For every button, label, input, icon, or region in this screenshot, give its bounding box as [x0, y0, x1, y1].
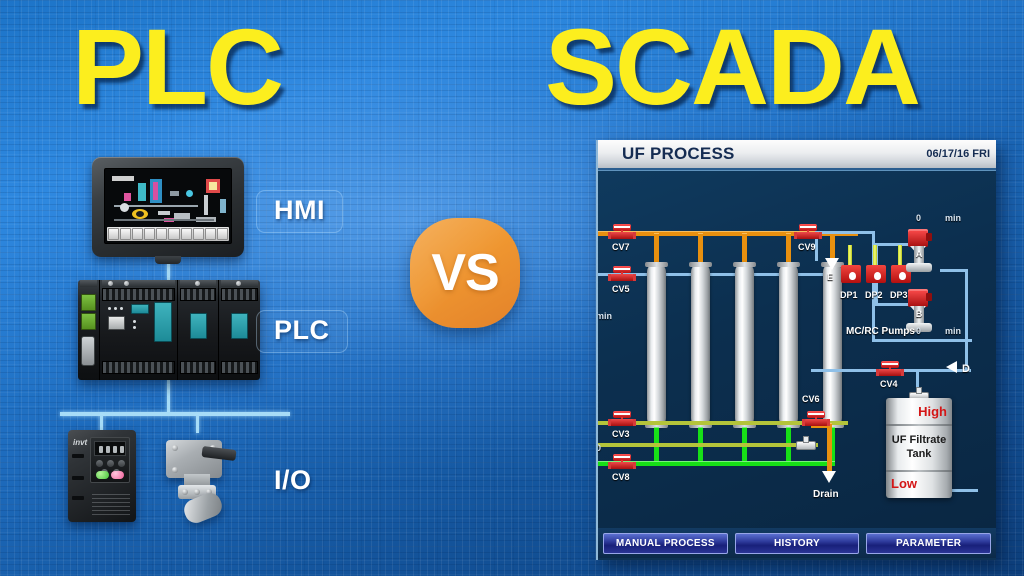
dosing-pump-dp3-label: DP3 — [890, 290, 908, 300]
dosing-pump-dp1[interactable] — [841, 245, 861, 285]
control-valve-cv3-label: CV3 — [612, 429, 630, 439]
scada-process-mimic: CV7 CV5 CV9 CV3 CV8 CV6 CV4 E DP1 DP2 DP… — [598, 170, 996, 528]
mcrc-pump-b-unit: min — [945, 326, 961, 336]
scada-datetime: 06/17/16 FRI — [926, 148, 990, 160]
tank-low-level-label: Low — [891, 476, 917, 491]
discharge-arrow-icon — [946, 361, 957, 373]
scada-button-manual-process[interactable]: MANUAL PROCESS — [603, 533, 728, 554]
scada-button-parameter[interactable]: PARAMETER — [866, 533, 991, 554]
pipe-olive-mid — [598, 443, 818, 447]
control-valve-cv5[interactable] — [610, 266, 634, 281]
bus-line-plc-drop — [167, 380, 170, 413]
control-valve-cv9-label: CV9 — [798, 242, 816, 252]
hmi-taskbar-button[interactable] — [181, 228, 192, 240]
control-valve-cv3[interactable] — [610, 411, 634, 426]
vfd-drive-device[interactable]: invt — [68, 430, 136, 522]
control-valve-cv7-label: CV7 — [612, 242, 630, 252]
hmi-mimic-graphic — [108, 173, 228, 226]
membrane-vessel — [735, 263, 754, 427]
mcrc-pump-b-value: 0 — [916, 326, 921, 336]
dosing-pump-dp1-label: DP1 — [840, 290, 858, 300]
plc-diagram: invt — [0, 130, 400, 560]
left-edge-value: 0 — [598, 443, 601, 453]
mcrc-pump-a-unit: min — [945, 213, 961, 223]
membrane-vessel — [647, 263, 666, 427]
mcrc-pump-b-label: B — [906, 309, 932, 319]
dosing-pump-dp2-label: DP2 — [865, 290, 883, 300]
pipe-mcrc-a-out — [940, 269, 968, 272]
pipe-drain-run — [827, 423, 832, 475]
left-edge-unit: min — [598, 311, 612, 321]
plc-body — [78, 280, 260, 380]
control-valve-cv4-label: CV4 — [880, 379, 898, 389]
scada-footer-bar: MANUAL PROCESS HISTORY PARAMETER — [598, 528, 996, 558]
hmi-taskbar[interactable] — [107, 227, 229, 241]
hmi-taskbar-button[interactable] — [205, 228, 216, 240]
valve-actuator-head — [166, 440, 222, 478]
membrane-vessel — [823, 263, 842, 427]
scada-screen-title: UF PROCESS — [622, 144, 735, 164]
actuator-valve-device[interactable] — [160, 432, 244, 524]
control-valve-cv6-label: CV6 — [802, 394, 820, 404]
vfd-keypad[interactable] — [90, 437, 130, 483]
vfd-run-button[interactable] — [96, 471, 109, 479]
bus-line-horizontal — [60, 412, 290, 416]
hmi-taskbar-button[interactable] — [193, 228, 204, 240]
hmi-taskbar-button[interactable] — [120, 228, 131, 240]
pipe-riser — [698, 233, 703, 265]
manual-valve[interactable] — [794, 439, 816, 450]
plc-power-module — [78, 280, 100, 380]
plc-controller-device[interactable] — [78, 280, 260, 380]
pipe-mcrc-left — [872, 339, 972, 342]
mcrc-pump-a[interactable]: A — [906, 229, 932, 275]
plc-cpu-module — [100, 280, 178, 380]
page-title-plc: PLC — [72, 16, 282, 119]
pipe-mcrc-discharge — [965, 269, 968, 369]
mcrc-pumps-caption: MC/RC Pumps — [846, 326, 915, 337]
vs-badge-label: VS — [431, 243, 498, 303]
hmi-stand — [155, 256, 181, 264]
vent-arrow-icon — [825, 258, 839, 270]
scada-button-history[interactable]: HISTORY — [735, 533, 860, 554]
discharge-label: D — [962, 363, 970, 375]
membrane-vessel — [691, 263, 710, 427]
dosing-pump-dp2[interactable] — [866, 245, 886, 285]
plc-io-module-2 — [219, 280, 260, 380]
label-io: I/O — [256, 460, 330, 503]
control-valve-cv4[interactable] — [878, 361, 902, 376]
vfd-brand-logo: invt — [73, 438, 87, 447]
tank-name-line2: Tank — [886, 448, 952, 460]
pipe-riser — [654, 233, 659, 265]
scada-header-bar: UF PROCESS 06/17/16 FRI — [598, 140, 996, 170]
scada-hmi-screen[interactable]: UF PROCESS 06/17/16 FRI — [596, 140, 996, 560]
hmi-taskbar-button[interactable] — [132, 228, 143, 240]
vfd-rating-label — [92, 494, 130, 516]
label-plc: PLC — [256, 310, 348, 353]
bus-line-to-valve — [196, 415, 199, 433]
plc-io-module-1 — [178, 280, 219, 380]
drain-label: Drain — [813, 489, 839, 500]
vs-badge: VS — [410, 218, 520, 328]
vfd-display — [94, 441, 126, 456]
pipe-riser — [786, 233, 791, 265]
tank-high-level-label: High — [918, 404, 947, 419]
uf-filtrate-tank: High UF Filtrate Tank Low — [886, 398, 952, 498]
control-valve-cv5-label: CV5 — [612, 284, 630, 294]
vfd-body: invt — [68, 430, 136, 522]
mcrc-pump-a-label: A — [906, 249, 932, 259]
control-valve-cv7[interactable] — [610, 224, 634, 239]
hmi-taskbar-button[interactable] — [144, 228, 155, 240]
pipe-riser — [742, 233, 747, 265]
page-title-scada: SCADA — [545, 16, 919, 119]
membrane-vessel — [779, 263, 798, 427]
hmi-taskbar-button[interactable] — [168, 228, 179, 240]
hmi-screen[interactable] — [104, 168, 232, 244]
tank-name-line1: UF Filtrate — [886, 434, 952, 446]
control-valve-cv9[interactable] — [796, 224, 820, 239]
mcrc-pump-a-value: 0 — [916, 213, 921, 223]
hmi-bezel — [92, 157, 244, 257]
pipe-vent-top — [815, 231, 875, 234]
control-valve-cv6[interactable] — [804, 411, 828, 426]
control-valve-cv8[interactable] — [610, 454, 634, 469]
vent-label-e: E — [827, 272, 833, 282]
label-hmi: HMI — [256, 190, 343, 233]
hmi-taskbar-button[interactable] — [156, 228, 167, 240]
control-valve-cv8-label: CV8 — [612, 472, 630, 482]
hmi-taskbar-button[interactable] — [108, 228, 119, 240]
vfd-stop-button[interactable] — [111, 471, 124, 479]
drain-arrow-icon — [822, 471, 836, 483]
hmi-panel-device[interactable] — [92, 157, 244, 257]
hmi-taskbar-button[interactable] — [217, 228, 228, 240]
